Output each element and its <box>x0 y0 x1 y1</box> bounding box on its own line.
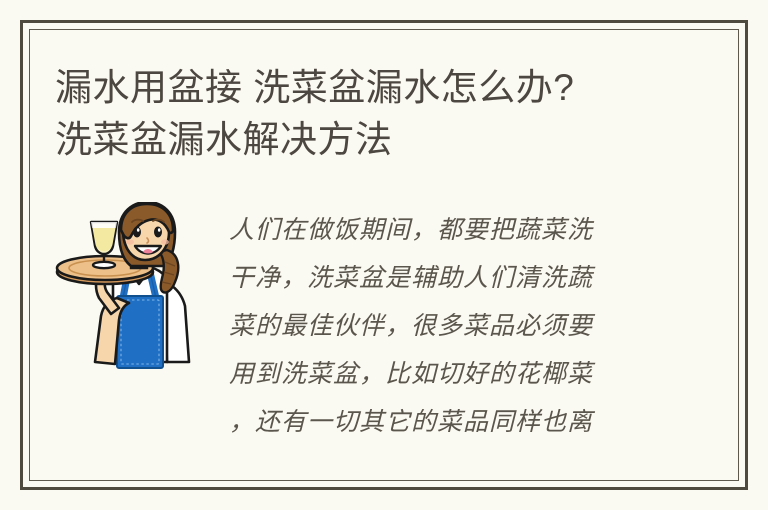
page-title: 漏水用盆接 洗菜盆漏水怎么办? 洗菜盆漏水解决方法 <box>55 62 675 166</box>
waitress-with-tray-illustration <box>55 202 205 382</box>
body-line-1: 人们在做饭期间，都要把蔬菜洗 <box>229 206 713 254</box>
body-line-3: 菜的最佳伙伴，很多菜品必须要 <box>229 302 713 350</box>
body-line-2: 干净，洗菜盆是辅助人们清洗蔬 <box>229 254 713 302</box>
article-card: 漏水用盆接 洗菜盆漏水怎么办? 洗菜盆漏水解决方法 <box>0 0 768 510</box>
content-area: 人们在做饭期间，都要把蔬菜洗 干净，洗菜盆是辅助人们清洗蔬 菜的最佳伙伴，很多菜… <box>55 196 713 455</box>
body-line-4: 用到洗菜盆，比如切好的花椰菜 <box>229 350 713 398</box>
title-line-2: 洗菜盆漏水解决方法 <box>55 114 675 166</box>
body-line-5: ，还有一切其它的菜品同样也离 <box>229 398 713 446</box>
article-body: 人们在做饭期间，都要把蔬菜洗 干净，洗菜盆是辅助人们清洗蔬 菜的最佳伙伴，很多菜… <box>215 196 713 446</box>
title-line-1: 漏水用盆接 洗菜盆漏水怎么办? <box>55 62 675 114</box>
illustration-container <box>55 196 215 382</box>
